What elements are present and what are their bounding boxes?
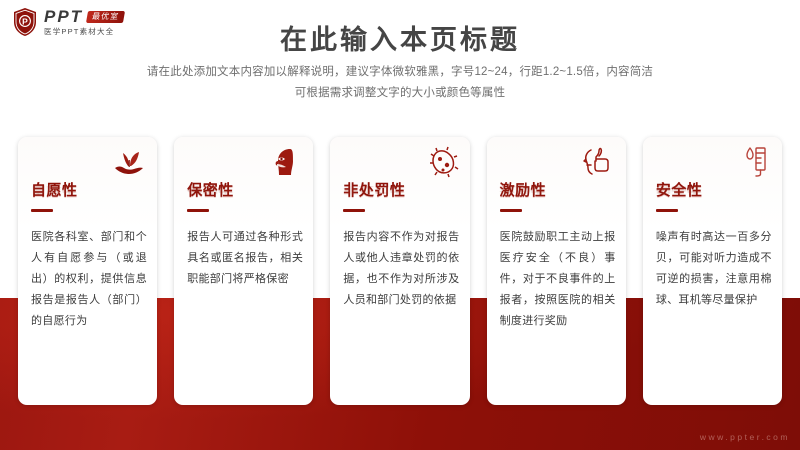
card-divider — [343, 209, 365, 212]
card-divider — [656, 209, 678, 212]
card-confidentiality[interactable]: 保密性 保密性 报告人可通过各种形式具名或匿名报告，相关职能部门将严格保密 — [174, 137, 313, 405]
iv-drip-icon — [735, 143, 773, 181]
secret-face-icon — [266, 143, 304, 181]
card-divider — [31, 209, 53, 212]
hand-plant-icon — [110, 143, 148, 181]
card-body: 报告人可通过各种形式具名或匿名报告，相关职能部门将严格保密 — [187, 227, 303, 290]
card-body: 噪声有时高达一百多分贝，可能对听力造成不可逆的损害，注意用棉球、耳机等尽量保护 — [656, 227, 772, 311]
card-safety[interactable]: 安全性 安全性 噪声有时高达一百多分贝，可能对听力造成不可逆的损害，注意用棉球、… — [643, 137, 782, 405]
card-divider — [500, 209, 522, 212]
card-voluntary[interactable]: 自愿性 自愿性 医院各科室、部门和个人有自愿参与（或退出）的权利，提供信息报告是… — [18, 137, 157, 405]
card-title: 保密性 — [187, 179, 234, 200]
page-title: 在此输入本页标题 — [0, 18, 800, 57]
card-title: 自愿性 — [31, 179, 78, 200]
card-title: 安全性 — [656, 179, 703, 200]
virus-icon — [423, 143, 461, 181]
subtitle-line-2: 可根据需求调整文字的大小或颜色等属性 — [0, 83, 800, 104]
card-body: 医院各科室、部门和个人有自愿参与（或退出）的权利，提供信息报告是报告人（部门）的… — [31, 227, 147, 332]
card-body: 报告内容不作为对报告人或他人违章处罚的依据，也不作为对所涉及人员和部门处罚的依据 — [343, 227, 459, 311]
card-non-punitive[interactable]: 非处罚性 非处罚性 报告内容不作为对报告人或他人违章处罚的依据，也不作为对所涉及… — [330, 137, 469, 405]
card-list: 自愿性 自愿性 医院各科室、部门和个人有自愿参与（或退出）的权利，提供信息报告是… — [18, 137, 782, 405]
thumbs-up-face-icon — [579, 143, 617, 181]
card-body: 医院鼓励职工主动上报医疗安全（不良）事件，对于不良事件的上报者，按照医院的相关制… — [500, 227, 616, 332]
card-title: 非处罚性 — [343, 179, 405, 200]
card-divider — [187, 209, 209, 212]
card-title: 激励性 — [500, 179, 547, 200]
site-watermark: www.ppter.com — [700, 432, 790, 442]
card-incentive[interactable]: 激励性 激励性 医院鼓励职工主动上报医疗安全（不良）事件，对于不良事件的上报者，… — [487, 137, 626, 405]
page-subtitle: 请在此处添加文本内容加以解释说明，建议字体微软雅黑，字号12~24，行距1.2~… — [0, 62, 800, 104]
subtitle-line-1: 请在此处添加文本内容加以解释说明，建议字体微软雅黑，字号12~24，行距1.2~… — [0, 62, 800, 83]
slide-canvas: P PPT 最优室 医学PPT素材大全 在此输入本页标题 请在此处添加文本内容加… — [0, 0, 800, 450]
